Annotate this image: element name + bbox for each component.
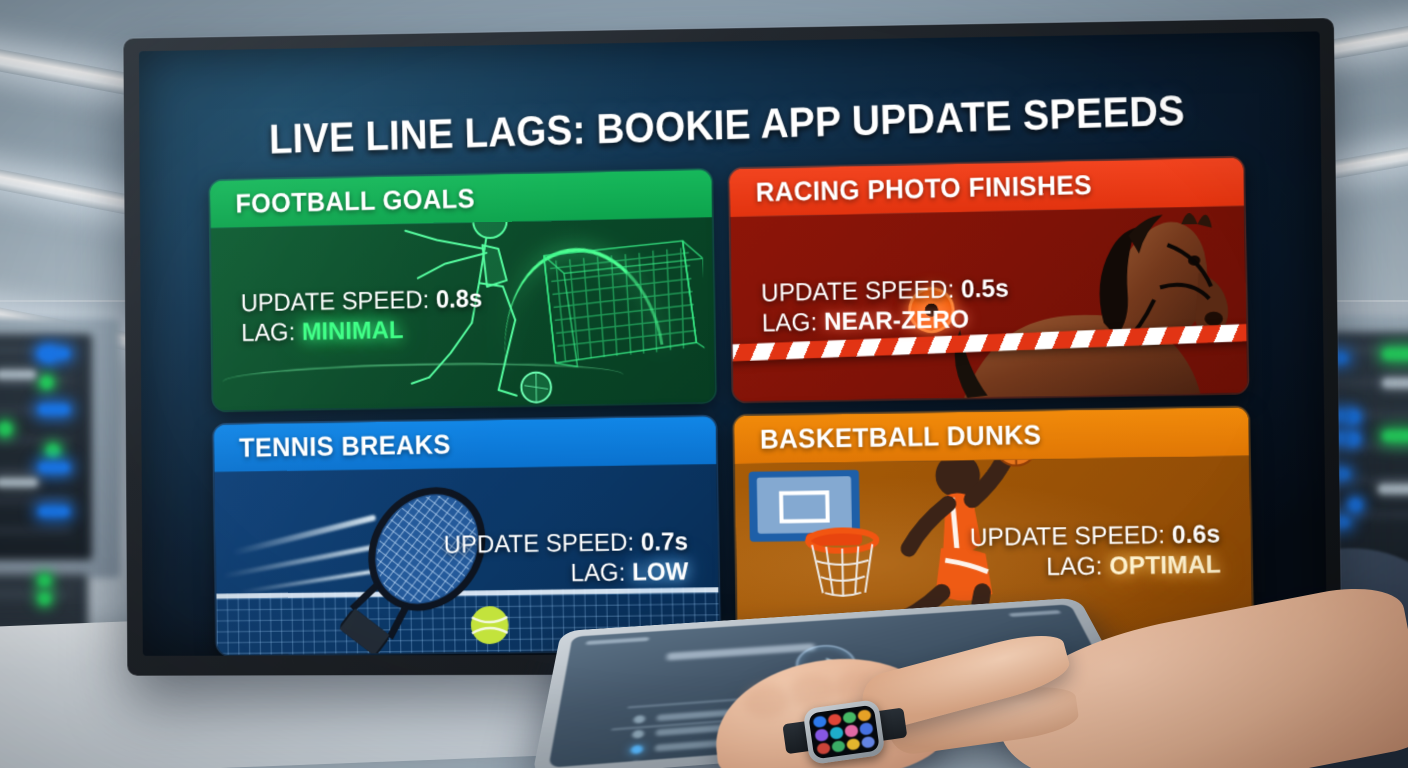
server-led	[0, 478, 38, 487]
panel-football-goals[interactable]: FOOTBALL GOALS	[210, 169, 716, 410]
server-led	[38, 404, 70, 415]
lag-value-racing: NEAR-ZERO	[824, 305, 970, 336]
panel-stats-racing: UPDATE SPEED: 0.5s LAG: NEAR-ZERO	[757, 274, 1013, 338]
panel-body-racing: UPDATE SPEED: 0.5s LAG: NEAR-ZERO	[730, 206, 1248, 402]
lag-row-basketball: LAG: OPTIMAL	[970, 550, 1221, 583]
update-speed-label: UPDATE SPEED:	[240, 286, 429, 317]
display-monitor: LIVE LINE LAGS: BOOKIE APP UPDATE SPEEDS…	[123, 18, 1341, 676]
lag-label: LAG:	[241, 318, 295, 347]
panel-grid: FOOTBALL GOALS	[210, 157, 1253, 655]
server-led	[38, 574, 51, 587]
tablet-list-bullet-active	[630, 745, 643, 755]
server-led	[38, 592, 51, 605]
tablet-list-bullet	[629, 761, 642, 768]
server-led	[46, 444, 60, 458]
panel-racing-photo-finishes[interactable]: RACING PHOTO FINISHES	[729, 157, 1248, 401]
panel-title-basketball: BASKETBALL DUNKS	[760, 419, 1042, 455]
lag-value-basketball: OPTIMAL	[1109, 550, 1221, 580]
lag-value-football: MINIMAL	[302, 316, 404, 346]
scene-root: LIVE LINE LAGS: BOOKIE APP UPDATE SPEEDS…	[0, 0, 1408, 768]
panel-title-racing: RACING PHOTO FINISHES	[755, 169, 1092, 207]
panel-body-football: UPDATE SPEED: 0.8s LAG: MINIMAL	[210, 217, 715, 410]
lag-value-tennis: LOW	[632, 557, 689, 586]
update-speed-row-football: UPDATE SPEED: 0.8s	[240, 285, 482, 319]
server-led	[1378, 484, 1408, 494]
server-led	[40, 376, 53, 389]
panel-header-tennis: TENNIS BREAKS	[213, 416, 716, 472]
panel-title-football: FOOTBALL GOALS	[235, 183, 475, 219]
server-led	[0, 370, 36, 379]
monitor-screen: LIVE LINE LAGS: BOOKIE APP UPDATE SPEEDS…	[139, 31, 1327, 655]
watch-face[interactable]	[808, 705, 880, 760]
smartwatch[interactable]	[802, 699, 885, 765]
tablet-app-title	[667, 643, 816, 660]
panel-tennis-breaks[interactable]: TENNIS BREAKS	[213, 416, 719, 655]
panel-header-basketball: BASKETBALL DUNKS	[734, 407, 1250, 464]
lag-row-tennis: LAG: LOW	[444, 557, 689, 590]
update-speed-value-basketball: 0.6s	[1172, 520, 1221, 549]
watch-case	[802, 699, 885, 765]
server-led	[38, 506, 70, 517]
server-led	[38, 462, 70, 473]
update-speed-row-basketball: UPDATE SPEED: 0.6s	[970, 520, 1221, 553]
server-led	[1382, 348, 1408, 360]
server-led	[1382, 430, 1408, 442]
server-led	[1382, 378, 1408, 388]
panel-stats-football: UPDATE SPEED: 0.8s LAG: MINIMAL	[237, 285, 487, 348]
server-led	[42, 348, 55, 361]
update-speed-value-tennis: 0.7s	[641, 528, 689, 557]
tablet-status-bar-right	[1009, 610, 1061, 617]
tablet-status-bar-left	[586, 637, 650, 645]
tablet-list-bullet	[632, 730, 645, 739]
server-led	[1348, 498, 1362, 512]
update-speed-label: UPDATE SPEED:	[970, 521, 1166, 552]
update-speed-label: UPDATE SPEED:	[444, 528, 635, 559]
lag-row-football: LAG: MINIMAL	[241, 314, 483, 348]
update-speed-label: UPDATE SPEED:	[761, 275, 955, 307]
update-speed-row-tennis: UPDATE SPEED: 0.7s	[444, 528, 689, 561]
lag-label: LAG:	[762, 308, 818, 337]
update-speed-value-football: 0.8s	[436, 285, 483, 314]
panel-stats-basketball: UPDATE SPEED: 0.6s LAG: OPTIMAL	[966, 520, 1225, 583]
panel-title-tennis: TENNIS BREAKS	[239, 429, 451, 463]
server-led	[1346, 410, 1360, 424]
update-speed-row-racing: UPDATE SPEED: 0.5s	[761, 274, 1009, 308]
lag-row-racing: LAG: NEAR-ZERO	[762, 304, 1010, 338]
server-led	[1346, 432, 1360, 446]
lag-label: LAG:	[570, 558, 625, 587]
panel-stats-tennis: UPDATE SPEED: 0.7s LAG: LOW	[440, 528, 693, 590]
page-title: LIVE LINE LAGS: BOOKIE APP UPDATE SPEEDS	[179, 83, 1278, 166]
tablet-list-bullet	[633, 715, 645, 724]
lag-label: LAG:	[1046, 552, 1103, 581]
update-speed-value-racing: 0.5s	[961, 274, 1009, 303]
